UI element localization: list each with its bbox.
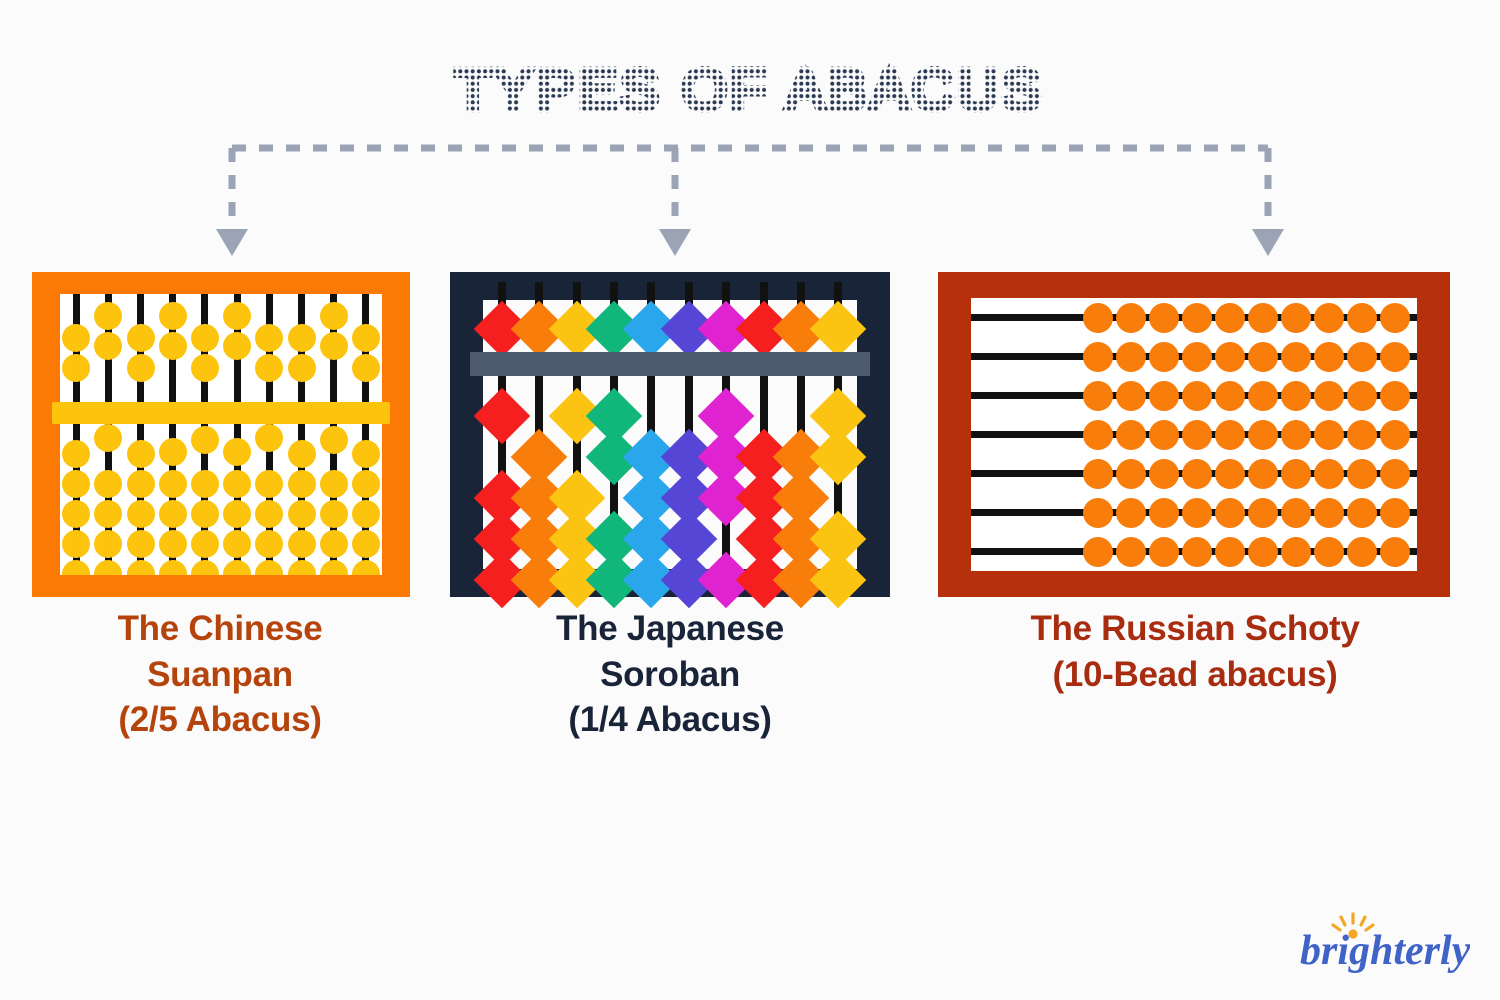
suanpan-bead-upper[interactable] — [288, 354, 316, 382]
schoty-bead[interactable] — [1215, 342, 1245, 372]
schoty-bead[interactable] — [1248, 303, 1278, 333]
suanpan-bead-lower[interactable] — [255, 530, 283, 558]
suanpan-bead-lower[interactable] — [223, 438, 251, 466]
arrowhead-schoty-icon — [1252, 229, 1284, 256]
schoty-bead[interactable] — [1215, 459, 1245, 489]
schoty-bead[interactable] — [1182, 459, 1212, 489]
suanpan-board — [60, 294, 382, 575]
schoty-bead[interactable] — [1215, 303, 1245, 333]
suanpan-bead-lower[interactable] — [288, 470, 316, 498]
schoty-bead[interactable] — [1182, 381, 1212, 411]
soroban-frame — [450, 272, 890, 597]
suanpan-bead-lower[interactable] — [352, 560, 380, 575]
brighterly-wordmark: brighterly — [1300, 928, 1470, 974]
schoty-bead[interactable] — [1116, 381, 1146, 411]
card-schoty: The Russian Schoty (10-Bead abacus) — [0, 0, 512, 325]
arrowhead-soroban-icon — [659, 229, 691, 256]
suanpan-bead-lower[interactable] — [288, 560, 316, 575]
suanpan-bead-lower[interactable] — [62, 470, 90, 498]
suanpan-bead-lower[interactable] — [94, 500, 122, 528]
suanpan-bead-lower[interactable] — [255, 560, 283, 575]
suanpan-bead-lower[interactable] — [94, 424, 122, 452]
schoty-bead[interactable] — [1314, 342, 1344, 372]
schoty-bead[interactable] — [1248, 420, 1278, 450]
suanpan-divider-bar — [52, 402, 390, 424]
suanpan-bead-lower[interactable] — [94, 470, 122, 498]
schoty-bead[interactable] — [1149, 420, 1179, 450]
schoty-bead[interactable] — [1083, 303, 1113, 333]
soroban-reckoning-bar — [470, 352, 870, 376]
suanpan-bead-lower[interactable] — [352, 530, 380, 558]
suanpan-bead-lower[interactable] — [159, 438, 187, 466]
schoty-bead[interactable] — [1380, 381, 1410, 411]
infographic-canvas: TYPES OF ABACUS TYPES OF ABACUS The Chin… — [0, 0, 1500, 1000]
schoty-bead[interactable] — [1281, 381, 1311, 411]
schoty-bead[interactable] — [1083, 381, 1113, 411]
schoty-bead[interactable] — [1083, 342, 1113, 372]
suanpan-bead-lower[interactable] — [127, 560, 155, 575]
schoty-bead[interactable] — [1149, 459, 1179, 489]
schoty-bead[interactable] — [1248, 342, 1278, 372]
suanpan-bead-lower[interactable] — [191, 426, 219, 454]
soroban-bead-lower[interactable] — [473, 388, 530, 445]
schoty-bead[interactable] — [1116, 537, 1146, 567]
suanpan-bead-upper[interactable] — [255, 324, 283, 352]
schoty-bead[interactable] — [1380, 342, 1410, 372]
suanpan-bead-lower[interactable] — [159, 530, 187, 558]
suanpan-bead-lower[interactable] — [62, 530, 90, 558]
schoty-bead[interactable] — [1182, 303, 1212, 333]
suanpan-bead-upper[interactable] — [62, 354, 90, 382]
schoty-bead[interactable] — [1182, 420, 1212, 450]
brighterly-logo-svg: brighterly — [1298, 912, 1470, 974]
suanpan-bead-lower[interactable] — [159, 500, 187, 528]
schoty-bead[interactable] — [1281, 537, 1311, 567]
schoty-bead[interactable] — [1347, 303, 1377, 333]
schoty-frame — [938, 272, 1450, 597]
suanpan-bead-lower[interactable] — [62, 500, 90, 528]
suanpan-bead-upper[interactable] — [127, 324, 155, 352]
suanpan-bead-lower[interactable] — [191, 470, 219, 498]
schoty-bead[interactable] — [1380, 303, 1410, 333]
suanpan-bead-lower[interactable] — [320, 560, 348, 575]
schoty-bead[interactable] — [1380, 420, 1410, 450]
suanpan-bead-upper[interactable] — [255, 354, 283, 382]
schoty-bead[interactable] — [1314, 537, 1344, 567]
schoty-bead[interactable] — [1149, 537, 1179, 567]
suanpan-bead-upper[interactable] — [223, 332, 251, 360]
suanpan-bead-lower[interactable] — [94, 560, 122, 575]
suanpan-bead-lower[interactable] — [288, 440, 316, 468]
suanpan-caption: The Chinese Suanpan (2/5 Abacus) — [10, 606, 430, 743]
suanpan-bead-upper[interactable] — [62, 324, 90, 352]
schoty-bead[interactable] — [1116, 420, 1146, 450]
suanpan-bead-lower[interactable] — [255, 500, 283, 528]
suanpan-bead-lower[interactable] — [62, 440, 90, 468]
brighterly-logo[interactable]: brighterly — [1298, 912, 1470, 974]
schoty-bead[interactable] — [1083, 420, 1113, 450]
schoty-bead[interactable] — [1281, 303, 1311, 333]
suanpan-bead-upper[interactable] — [127, 354, 155, 382]
suanpan-bead-upper[interactable] — [94, 332, 122, 360]
soroban-rod-layer — [483, 282, 857, 587]
schoty-bead[interactable] — [1149, 342, 1179, 372]
soroban-caption: The Japanese Soroban (1/4 Abacus) — [455, 606, 885, 743]
suanpan-bead-upper[interactable] — [288, 324, 316, 352]
schoty-caption: The Russian Schoty (10-Bead abacus) — [935, 606, 1455, 697]
schoty-bead[interactable] — [1116, 303, 1146, 333]
suanpan-bead-lower[interactable] — [320, 470, 348, 498]
schoty-bead[interactable] — [1083, 537, 1113, 567]
suanpan-bead-lower[interactable] — [320, 530, 348, 558]
suanpan-bead-lower[interactable] — [255, 424, 283, 452]
suanpan-bead-lower[interactable] — [191, 500, 219, 528]
schoty-bead[interactable] — [1314, 303, 1344, 333]
schoty-bead[interactable] — [1182, 537, 1212, 567]
schoty-bead[interactable] — [1380, 537, 1410, 567]
schoty-bead[interactable] — [1248, 537, 1278, 567]
suanpan-bead-lower[interactable] — [223, 500, 251, 528]
suanpan-bead-lower[interactable] — [288, 500, 316, 528]
schoty-board — [971, 298, 1417, 571]
suanpan-bead-lower[interactable] — [127, 500, 155, 528]
schoty-bead[interactable] — [1116, 498, 1146, 528]
schoty-bead[interactable] — [1083, 498, 1113, 528]
schoty-bead[interactable] — [1083, 459, 1113, 489]
schoty-bead[interactable] — [1281, 420, 1311, 450]
suanpan-bead-upper[interactable] — [191, 354, 219, 382]
schoty-bead[interactable] — [1314, 498, 1344, 528]
schoty-bead[interactable] — [1116, 342, 1146, 372]
suanpan-bead-lower[interactable] — [352, 470, 380, 498]
suanpan-bead-lower[interactable] — [191, 560, 219, 575]
schoty-bead[interactable] — [1215, 498, 1245, 528]
schoty-bead[interactable] — [1182, 498, 1212, 528]
soroban-bead-upper[interactable] — [810, 301, 867, 358]
suanpan-bead-upper[interactable] — [191, 324, 219, 352]
suanpan-bead-lower[interactable] — [127, 440, 155, 468]
suanpan-bead-lower[interactable] — [127, 470, 155, 498]
suanpan-bead-lower[interactable] — [255, 470, 283, 498]
schoty-bead[interactable] — [1215, 381, 1245, 411]
suanpan-bead-lower[interactable] — [288, 530, 316, 558]
schoty-bead[interactable] — [1281, 459, 1311, 489]
suanpan-bead-lower[interactable] — [320, 426, 348, 454]
suanpan-bead-lower[interactable] — [223, 530, 251, 558]
schoty-bead[interactable] — [1248, 498, 1278, 528]
schoty-bead[interactable] — [1314, 381, 1344, 411]
suanpan-bead-lower[interactable] — [62, 560, 90, 575]
schoty-bead[interactable] — [1149, 498, 1179, 528]
suanpan-bead-lower[interactable] — [191, 530, 219, 558]
suanpan-bead-lower[interactable] — [320, 500, 348, 528]
soroban-bead-lower[interactable] — [810, 429, 867, 486]
suanpan-bead-lower[interactable] — [352, 440, 380, 468]
schoty-bead[interactable] — [1347, 459, 1377, 489]
suanpan-bead-lower[interactable] — [352, 500, 380, 528]
schoty-bead[interactable] — [1347, 498, 1377, 528]
suanpan-bead-lower[interactable] — [223, 470, 251, 498]
suanpan-bead-upper[interactable] — [352, 324, 380, 352]
suanpan-bead-upper[interactable] — [320, 332, 348, 360]
schoty-bead[interactable] — [1215, 420, 1245, 450]
schoty-bead[interactable] — [1116, 459, 1146, 489]
suanpan-bead-lower[interactable] — [94, 530, 122, 558]
schoty-bead[interactable] — [1314, 459, 1344, 489]
suanpan-bead-lower[interactable] — [223, 560, 251, 575]
schoty-bead[interactable] — [1182, 342, 1212, 372]
soroban-bead-lower[interactable] — [810, 552, 867, 609]
schoty-bead[interactable] — [1314, 420, 1344, 450]
suanpan-bead-upper[interactable] — [352, 354, 380, 382]
schoty-bead[interactable] — [1281, 498, 1311, 528]
schoty-bead[interactable] — [1215, 537, 1245, 567]
suanpan-bead-upper[interactable] — [159, 332, 187, 360]
schoty-bead[interactable] — [1149, 381, 1179, 411]
schoty-bead[interactable] — [1248, 459, 1278, 489]
schoty-bead[interactable] — [1380, 459, 1410, 489]
schoty-bead[interactable] — [1149, 303, 1179, 333]
suanpan-bead-lower[interactable] — [159, 560, 187, 575]
suanpan-bead-lower[interactable] — [127, 530, 155, 558]
schoty-bead[interactable] — [1347, 420, 1377, 450]
schoty-bead[interactable] — [1347, 342, 1377, 372]
suanpan-bead-lower[interactable] — [159, 470, 187, 498]
schoty-bead[interactable] — [1347, 537, 1377, 567]
schoty-bead[interactable] — [1380, 498, 1410, 528]
schoty-bead[interactable] — [1281, 342, 1311, 372]
schoty-bead[interactable] — [1347, 381, 1377, 411]
schoty-bead[interactable] — [1248, 381, 1278, 411]
